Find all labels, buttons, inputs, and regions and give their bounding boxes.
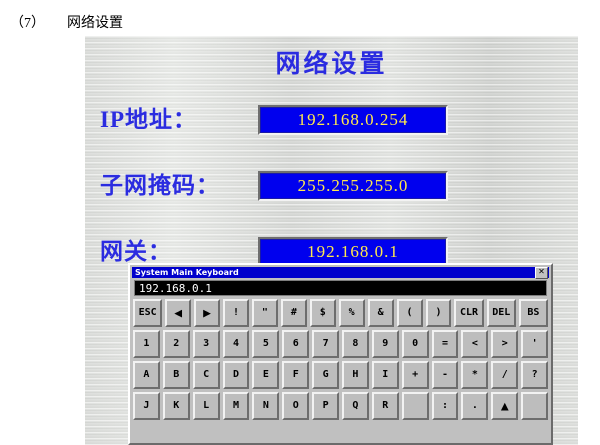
figure-number: （7） [10,16,45,31]
keyboard-key-quote[interactable]: " [252,299,278,327]
keyboard-key-c[interactable]: C [193,361,220,389]
keyboard-key-esc[interactable]: ESC [133,299,162,327]
keyboard-key-d[interactable]: D [223,361,250,389]
subnet-mask-label: 子网掩码： [100,170,220,202]
keyboard-key-question[interactable]: ? [521,361,548,389]
keyboard-key-slash[interactable]: / [491,361,518,389]
keyboard-key-right[interactable]: ▶ [194,299,220,327]
keyboard-key-4[interactable]: 4 [223,330,250,358]
figure-caption: （7）网络设置 [10,12,123,32]
keyboard-key-e[interactable]: E [252,361,279,389]
keyboard-key-l[interactable]: L [193,392,220,420]
keyboard-key-percent[interactable]: % [339,299,365,327]
keyboard-key-o[interactable]: O [282,392,309,420]
keyboard-key-greater[interactable]: > [491,330,518,358]
keyboard-key-0[interactable]: 0 [402,330,429,358]
subnet-mask-value: 255.255.255.0 [298,176,409,196]
subnet-mask-input[interactable]: 255.255.255.0 [258,171,448,201]
keyboard-key-colon[interactable]: : [432,392,459,420]
keyboard-key-minus[interactable]: - [432,361,459,389]
keyboard-key-clr[interactable]: CLR [454,299,483,327]
ip-address-value: 192.168.0.254 [298,110,409,130]
keyboard-key-9[interactable]: 9 [372,330,399,358]
keyboard-key-apostrophe[interactable]: ' [521,330,548,358]
keyboard-key-paren-close[interactable]: ) [426,299,452,327]
keyboard-key-paren-open[interactable]: ( [397,299,423,327]
gateway-value: 192.168.0.1 [307,242,399,262]
keyboard-key-blank [521,392,548,420]
keyboard-key-less[interactable]: < [461,330,488,358]
keyboard-row: ABCDEFGHI+-*/? [133,361,548,389]
keyboard-display[interactable]: 192.168.0.1 [134,280,547,296]
keyboard-key-up[interactable]: ▲ [491,392,518,420]
keyboard-key-q[interactable]: Q [342,392,369,420]
keyboard-display-value: 192.168.0.1 [135,282,212,295]
keyboard-key-left[interactable]: ◀ [165,299,191,327]
keyboard-key-amp[interactable]: & [368,299,394,327]
keyboard-key-exclam[interactable]: ! [223,299,249,327]
keyboard-key-p[interactable]: P [312,392,339,420]
keyboard-key-del[interactable]: DEL [487,299,516,327]
keyboard-key-g[interactable]: G [312,361,339,389]
close-icon[interactable]: ✕ [535,267,548,279]
field-row-subnet-mask: 子网掩码： 255.255.255.0 [85,170,578,204]
keyboard-key-k[interactable]: K [163,392,190,420]
keyboard-key-h[interactable]: H [342,361,369,389]
keyboard-key-i[interactable]: I [372,361,399,389]
keyboard-title: System Main Keyboard [132,267,239,278]
ip-address-label: IP地址： [100,104,197,136]
keyboard-keypad: ESC◀▶!"#$%&()CLRDELBS1234567890=<>'ABCDE… [133,299,548,441]
keyboard-key-dollar[interactable]: $ [310,299,336,327]
keyboard-key-6[interactable]: 6 [282,330,309,358]
keyboard-key-8[interactable]: 8 [342,330,369,358]
keyboard-key-j[interactable]: J [133,392,160,420]
keyboard-key-blank [402,392,429,420]
keyboard-row: JKLMNOPQR:.▲ [133,392,548,420]
keyboard-key-3[interactable]: 3 [193,330,220,358]
keyboard-key-b[interactable]: B [163,361,190,389]
keyboard-key-2[interactable]: 2 [163,330,190,358]
keyboard-key-1[interactable]: 1 [133,330,160,358]
keyboard-key-equals[interactable]: = [432,330,459,358]
system-main-keyboard-dialog: System Main Keyboard ✕ 192.168.0.1 ESC◀▶… [128,263,553,445]
keyboard-key-n[interactable]: N [252,392,279,420]
keyboard-key-bs[interactable]: BS [519,299,548,327]
keyboard-key-r[interactable]: R [372,392,399,420]
keyboard-key-hash[interactable]: # [281,299,307,327]
keyboard-key-7[interactable]: 7 [312,330,339,358]
figure-caption-text: 网络设置 [67,16,123,31]
keyboard-key-asterisk[interactable]: * [461,361,488,389]
keyboard-key-period[interactable]: . [461,392,488,420]
ip-address-input[interactable]: 192.168.0.254 [258,105,448,135]
keyboard-key-m[interactable]: M [223,392,250,420]
keyboard-titlebar[interactable]: System Main Keyboard ✕ [132,267,549,278]
keyboard-key-a[interactable]: A [133,361,160,389]
keyboard-row: ESC◀▶!"#$%&()CLRDELBS [133,299,548,327]
field-row-ip-address: IP地址： 192.168.0.254 [85,104,578,138]
keyboard-row: 1234567890=<>' [133,330,548,358]
panel-title: 网络设置 [85,44,578,80]
keyboard-key-f[interactable]: F [282,361,309,389]
keyboard-key-5[interactable]: 5 [252,330,279,358]
keyboard-key-plus[interactable]: + [402,361,429,389]
